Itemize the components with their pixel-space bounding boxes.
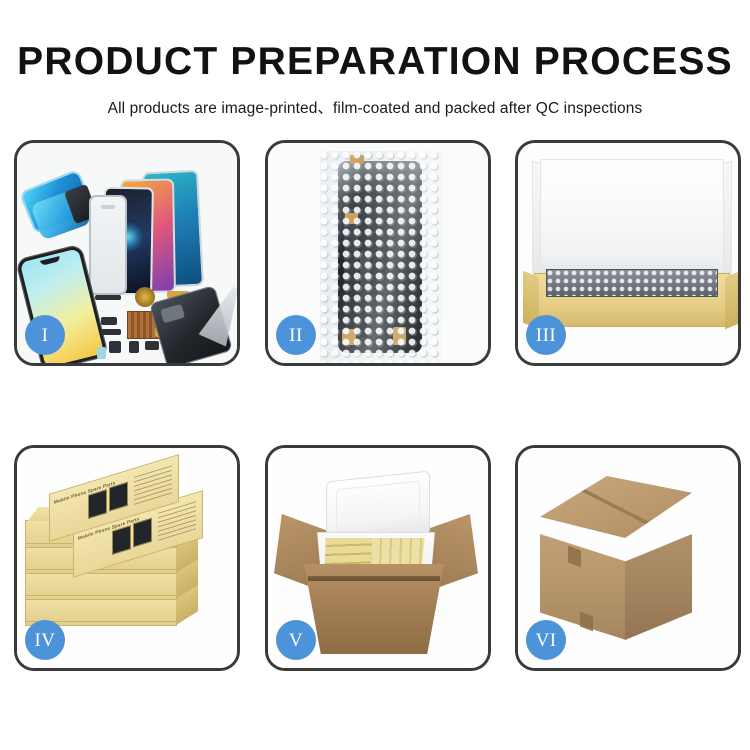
step-3-image: III [518, 143, 738, 363]
step-panel-4: Mobile Phone Spare Parts Mobile Phone Sp… [14, 445, 240, 671]
step-6-image: VI [518, 448, 738, 668]
step-panel-6: VI [515, 445, 741, 671]
step-badge-4: IV [25, 620, 65, 660]
box-window-left [88, 489, 107, 519]
box-window-right [133, 518, 152, 548]
box-window-left [112, 525, 131, 555]
step-badge-1: I [25, 315, 65, 355]
step-badge-6: VI [526, 620, 566, 660]
page-subtitle: All products are image-printed、film-coat… [0, 96, 750, 118]
plastic-sheen [320, 151, 442, 363]
step-panel-3: III [515, 140, 741, 366]
step-4-image: Mobile Phone Spare Parts Mobile Phone Sp… [17, 448, 237, 668]
step-badge-3: III [526, 315, 566, 355]
product-preparation-process-infographic: PRODUCT PREPARATION PROCESS All products… [0, 0, 750, 750]
process-steps-grid: I II [14, 140, 736, 680]
header: PRODUCT PREPARATION PROCESS All products… [0, 0, 750, 118]
screen-protector [89, 195, 127, 295]
step-panel-2: II [265, 140, 491, 366]
box-spec-lines [158, 501, 196, 541]
step-badge-2: II [276, 315, 316, 355]
step-panel-1: I [14, 140, 240, 366]
step-1-image: I [17, 143, 237, 363]
step-badge-5: V [276, 620, 316, 660]
stacked-box [25, 572, 177, 600]
box-window-right [109, 482, 128, 512]
step-5-image: V [268, 448, 488, 668]
step-panel-5: V [265, 445, 491, 671]
carton-rim [308, 576, 440, 581]
bubble-wrapped-contents [546, 269, 718, 297]
box-spec-lines [134, 465, 172, 505]
page-title: PRODUCT PREPARATION PROCESS [0, 42, 750, 81]
step-2-image: II [268, 143, 488, 363]
bubble-wrap-bag [320, 151, 442, 363]
